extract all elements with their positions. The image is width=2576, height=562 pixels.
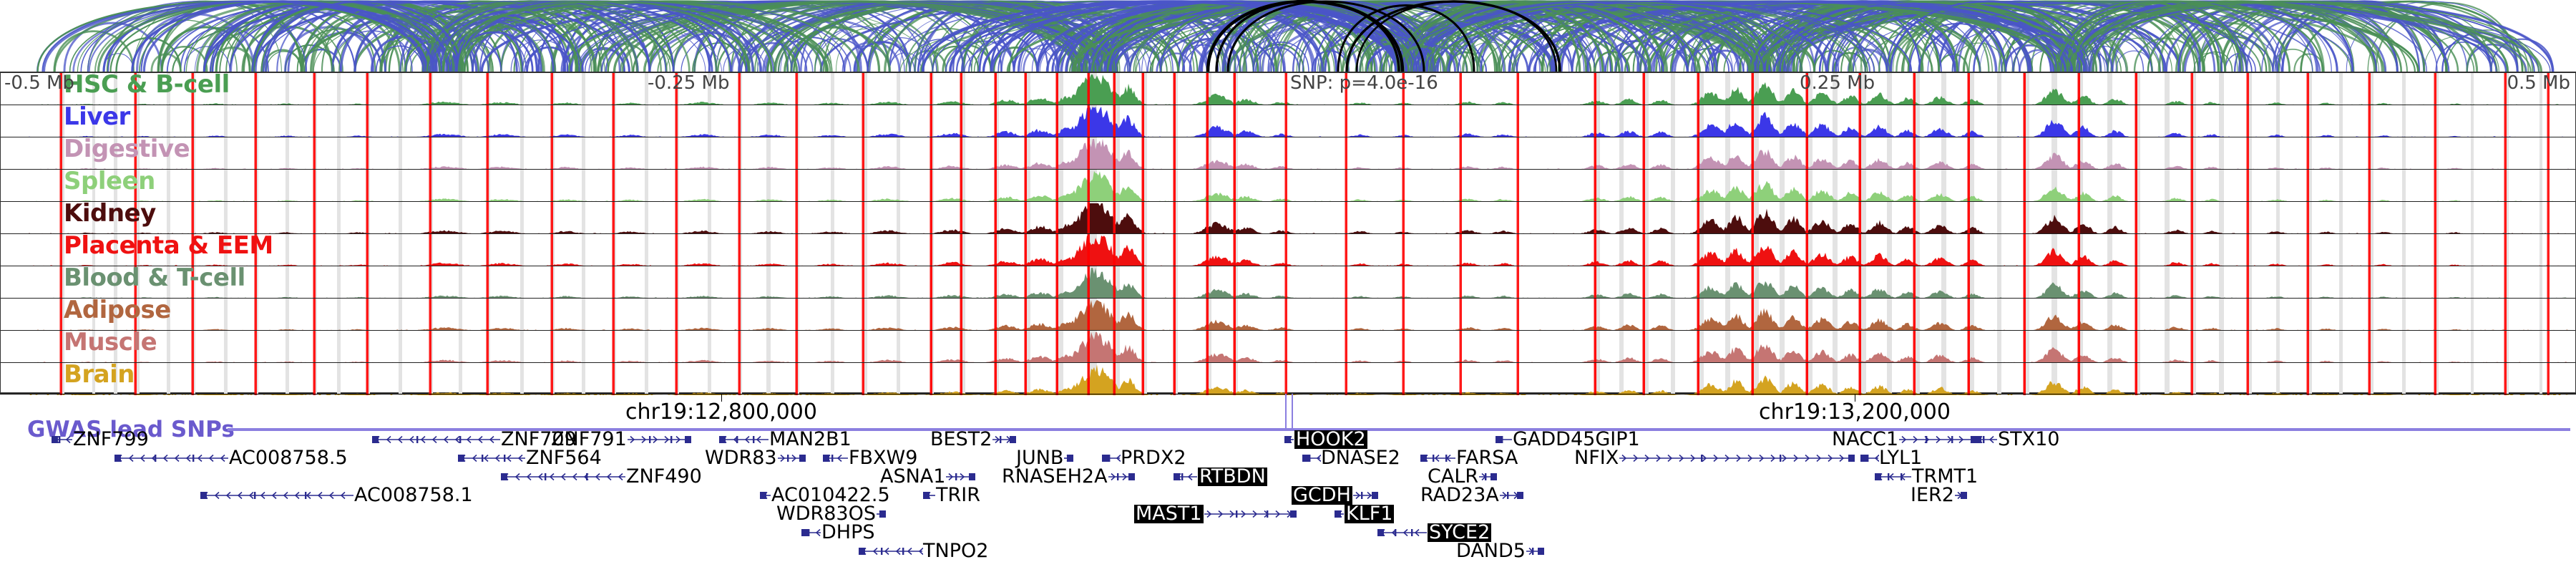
- gene-model: [801, 525, 821, 541]
- gene-label: RNASEH2A: [1002, 467, 1108, 486]
- gene-label: TNPO2: [923, 542, 988, 561]
- gene-label: RTBDN: [1198, 467, 1267, 486]
- gene-label: ASNA1: [880, 467, 945, 486]
- gene-prdx2[interactable]: PRDX2: [1102, 448, 1186, 467]
- track-signal-svg: [1, 299, 2575, 331]
- gene-ac008758-5[interactable]: AC008758.5: [114, 448, 348, 467]
- gene-model: [1204, 506, 1297, 522]
- gene-fbxw9[interactable]: FBXW9: [823, 448, 917, 467]
- gene-znf799[interactable]: ZNF799: [52, 430, 149, 448]
- signal-histogram: [1, 236, 2575, 266]
- track-row-hsc-b-cell[interactable]: HSC & B-cell: [1, 73, 2575, 105]
- gene-model: [200, 488, 354, 503]
- gene-nfix[interactable]: NFIX: [1574, 448, 1855, 467]
- gene-label: CALR: [1428, 467, 1478, 486]
- track-row-spleen[interactable]: Spleen: [1, 170, 2575, 202]
- gene-znf791[interactable]: ZNF791: [551, 430, 691, 448]
- gene-label: HOOK2: [1294, 430, 1367, 449]
- gene-label: STX10: [1998, 430, 2059, 449]
- gene-ier2[interactable]: IER2: [1911, 485, 1967, 504]
- track-signal-svg: [1, 73, 2575, 105]
- gene-znf490[interactable]: ZNF490: [501, 467, 702, 485]
- track-row-placenta-eem[interactable]: Placenta & EEM: [1, 234, 2575, 266]
- gene-model: [1954, 488, 1967, 503]
- gene-model: [1063, 450, 1073, 466]
- gene-stx10[interactable]: STX10: [1975, 430, 2059, 448]
- gene-model: [823, 450, 849, 466]
- track-label-digestive: Digestive: [64, 137, 190, 165]
- gene-label: GADD45GIP1: [1513, 430, 1640, 449]
- signal-histogram: [1, 203, 2575, 234]
- genome-browser: HSC & B-cellLiverDigestiveSpleenKidneyPl…: [0, 0, 2576, 537]
- track-row-liver[interactable]: Liver: [1, 105, 2575, 137]
- gene-label: SYCE2: [1428, 523, 1491, 542]
- track-signal-svg: [1, 234, 2575, 266]
- track-signal-svg: [1, 137, 2575, 170]
- gene-model: [923, 488, 936, 503]
- track-signal-svg: [1, 266, 2575, 299]
- gene-label: KLF1: [1345, 505, 1394, 523]
- gene-nacc1[interactable]: NACC1: [1832, 430, 1977, 448]
- gene-junb[interactable]: JUNB: [1016, 448, 1073, 467]
- gene-znf709[interactable]: ZNF709: [372, 430, 577, 448]
- gene-farsa[interactable]: FARSA: [1420, 448, 1518, 467]
- gene-model: [1352, 488, 1378, 503]
- gene-model: [1875, 469, 1912, 485]
- gene-label: ZNF490: [626, 467, 702, 486]
- axis-label-q3: 0.25 Mb: [1800, 72, 1875, 94]
- gene-model: [1975, 432, 1998, 447]
- coordinate-ruler: chr19:12,800,000chr19:13,200,000: [0, 394, 2576, 427]
- gene-dhps[interactable]: DHPS: [801, 523, 875, 541]
- gene-trmt1[interactable]: TRMT1: [1875, 467, 1978, 485]
- gene-dand5[interactable]: DAND5: [1456, 541, 1544, 560]
- gene-syce2[interactable]: SYCE2: [1377, 523, 1491, 541]
- signal-histogram: [1, 74, 2575, 105]
- gene-ac010422-5[interactable]: AC010422.5: [760, 485, 890, 504]
- gene-wdr83[interactable]: WDR83: [705, 448, 806, 467]
- track-label-blood-t-cell: Blood & T-cell: [64, 266, 245, 294]
- gene-wdr83os[interactable]: WDR83OS: [776, 504, 886, 523]
- track-label-brain: Brain: [64, 363, 135, 391]
- track-label-muscle: Muscle: [64, 331, 157, 359]
- track-row-blood-t-cell[interactable]: Blood & T-cell: [1, 266, 2575, 299]
- gene-label: RAD23A: [1420, 486, 1499, 505]
- track-label-kidney: Kidney: [64, 202, 156, 230]
- gwas-lead-snp-marker[interactable]: [1285, 394, 1287, 428]
- track-label-placenta-eem: Placenta & EEM: [64, 234, 273, 262]
- gene-rad23a[interactable]: RAD23A: [1420, 485, 1523, 504]
- gene-gcdh[interactable]: GCDH: [1292, 485, 1378, 504]
- signal-histogram: [1, 364, 2575, 395]
- gene-label: ZNF799: [73, 430, 149, 449]
- track-signal-svg: [1, 363, 2575, 395]
- track-row-kidney[interactable]: Kidney: [1, 202, 2575, 234]
- gene-label: AC008758.5: [229, 449, 348, 467]
- gene-label: WDR83: [705, 449, 777, 467]
- gene-model: [1174, 469, 1198, 485]
- gene-label: FARSA: [1456, 449, 1518, 467]
- gene-label: FBXW9: [849, 449, 917, 467]
- gene-tnpo2[interactable]: TNPO2: [859, 541, 988, 560]
- signal-histogram: [1, 171, 2575, 202]
- arc-svg: [0, 0, 2576, 72]
- track-signal-svg: [1, 105, 2575, 137]
- gene-model: [876, 506, 886, 522]
- gene-klf1[interactable]: KLF1: [1335, 504, 1394, 523]
- gwas-lead-snp-marker[interactable]: [1292, 394, 1293, 428]
- track-row-muscle[interactable]: Muscle: [1, 331, 2575, 363]
- signal-histogram: [1, 107, 2575, 137]
- gene-label: AC010422.5: [771, 486, 890, 505]
- gene-label: DAND5: [1456, 542, 1526, 561]
- gene-label: JUNB: [1016, 449, 1063, 467]
- gene-label: AC008758.1: [354, 486, 473, 505]
- axis-label-left: -0.5 Mb: [4, 72, 74, 94]
- gene-model: [1284, 432, 1294, 447]
- gene-label: TRMT1: [1912, 467, 1978, 486]
- gene-rtbdn[interactable]: RTBDN: [1174, 467, 1267, 485]
- gene-label: BEST2: [930, 430, 992, 449]
- gene-label: DHPS: [821, 523, 875, 542]
- gene-label: NFIX: [1574, 449, 1619, 467]
- gene-ac008758-1[interactable]: AC008758.1: [200, 485, 473, 504]
- gene-model: [1499, 488, 1523, 503]
- loop-arc: [2294, 54, 2323, 72]
- gene-dnase2[interactable]: DNASE2: [1302, 448, 1400, 467]
- signal-histogram: [1, 139, 2575, 170]
- signal-histogram: [1, 332, 2575, 363]
- ruler-coordinate-label: chr19:13,200,000: [1759, 399, 1951, 425]
- gene-hook2[interactable]: HOOK2: [1284, 430, 1367, 448]
- gene-label: DNASE2: [1321, 449, 1400, 467]
- track-row-adipose[interactable]: Adipose: [1, 299, 2575, 331]
- gene-model: [1860, 450, 1879, 466]
- gene-calr[interactable]: CALR: [1428, 467, 1497, 485]
- track-label-hsc-b-cell: HSC & B-cell: [64, 73, 230, 101]
- track-label-adipose: Adipose: [64, 299, 171, 326]
- gene-gadd45gip1[interactable]: GADD45GIP1: [1496, 430, 1640, 448]
- gene-label: GCDH: [1292, 486, 1352, 505]
- gene-znf564[interactable]: ZNF564: [458, 448, 602, 467]
- gene-model: [1898, 432, 1977, 447]
- gene-asna1[interactable]: ASNA1: [880, 467, 975, 485]
- gene-label: LYL1: [1879, 449, 1922, 467]
- gene-model: [1108, 469, 1135, 485]
- gene-label: ZNF791: [551, 430, 627, 449]
- gene-label: MAST1: [1134, 505, 1204, 523]
- gene-model: [1302, 450, 1321, 466]
- snp-pvalue-label: SNP: p=4.0e-16: [1290, 72, 1438, 94]
- ruler-baseline: [0, 394, 2576, 394]
- track-signal-svg: [1, 170, 2575, 202]
- gene-model: [52, 432, 73, 447]
- gene-model: [945, 469, 975, 485]
- signal-histogram: [1, 268, 2575, 299]
- gene-label: IER2: [1911, 486, 1954, 505]
- gene-best2[interactable]: BEST2: [930, 430, 1016, 448]
- gene-model: [458, 450, 526, 466]
- gene-model: [114, 450, 229, 466]
- track-row-digestive[interactable]: Digestive: [1, 137, 2575, 170]
- gene-label: NACC1: [1832, 430, 1898, 449]
- gene-annotation-panel: ZNF799ZNF709ZNF791MAN2B1BEST2HOOK2GADD45…: [0, 430, 2576, 537]
- gene-model: [719, 432, 769, 447]
- gene-model: [501, 469, 626, 485]
- axis-label-q1: -0.25 Mb: [648, 72, 729, 94]
- track-signal-svg: [1, 202, 2575, 234]
- gene-label: MAN2B1: [769, 430, 852, 449]
- gene-model: [1478, 469, 1497, 485]
- chromatin-loop-arc-panel: [0, 0, 2576, 72]
- gene-man2b1[interactable]: MAN2B1: [719, 430, 852, 448]
- gene-model: [1420, 450, 1456, 466]
- gene-lyl1[interactable]: LYL1: [1860, 448, 1922, 467]
- gene-model: [1526, 543, 1544, 559]
- axis-label-right: 0.5 Mb: [2507, 72, 2570, 94]
- gene-label: ZNF564: [526, 449, 602, 467]
- gene-model: [777, 450, 806, 466]
- gene-trir[interactable]: TRIR: [923, 485, 980, 504]
- gene-model: [1619, 450, 1855, 466]
- gene-model: [992, 432, 1016, 447]
- gene-label: WDR83OS: [776, 505, 876, 523]
- gene-label: PRDX2: [1121, 449, 1186, 467]
- signal-track-stack: HSC & B-cellLiverDigestiveSpleenKidneyPl…: [0, 72, 2576, 394]
- signal-histogram: [1, 300, 2575, 331]
- track-label-spleen: Spleen: [64, 170, 155, 198]
- track-label-liver: Liver: [64, 105, 130, 133]
- track-signal-svg: [1, 331, 2575, 363]
- gene-model: [1377, 525, 1428, 541]
- gene-model: [1335, 506, 1345, 522]
- gene-model: [760, 488, 771, 503]
- gene-model: [372, 432, 501, 447]
- track-row-brain[interactable]: Brain: [1, 363, 2575, 395]
- gene-label: TRIR: [936, 486, 980, 505]
- gene-model: [627, 432, 691, 447]
- ruler-coordinate-label: chr19:12,800,000: [625, 399, 817, 425]
- gene-rnaseh2a[interactable]: RNASEH2A: [1002, 467, 1135, 485]
- gene-model: [1496, 432, 1513, 447]
- gene-model: [859, 543, 923, 559]
- gene-mast1[interactable]: MAST1: [1134, 504, 1297, 523]
- gene-model: [1102, 450, 1121, 466]
